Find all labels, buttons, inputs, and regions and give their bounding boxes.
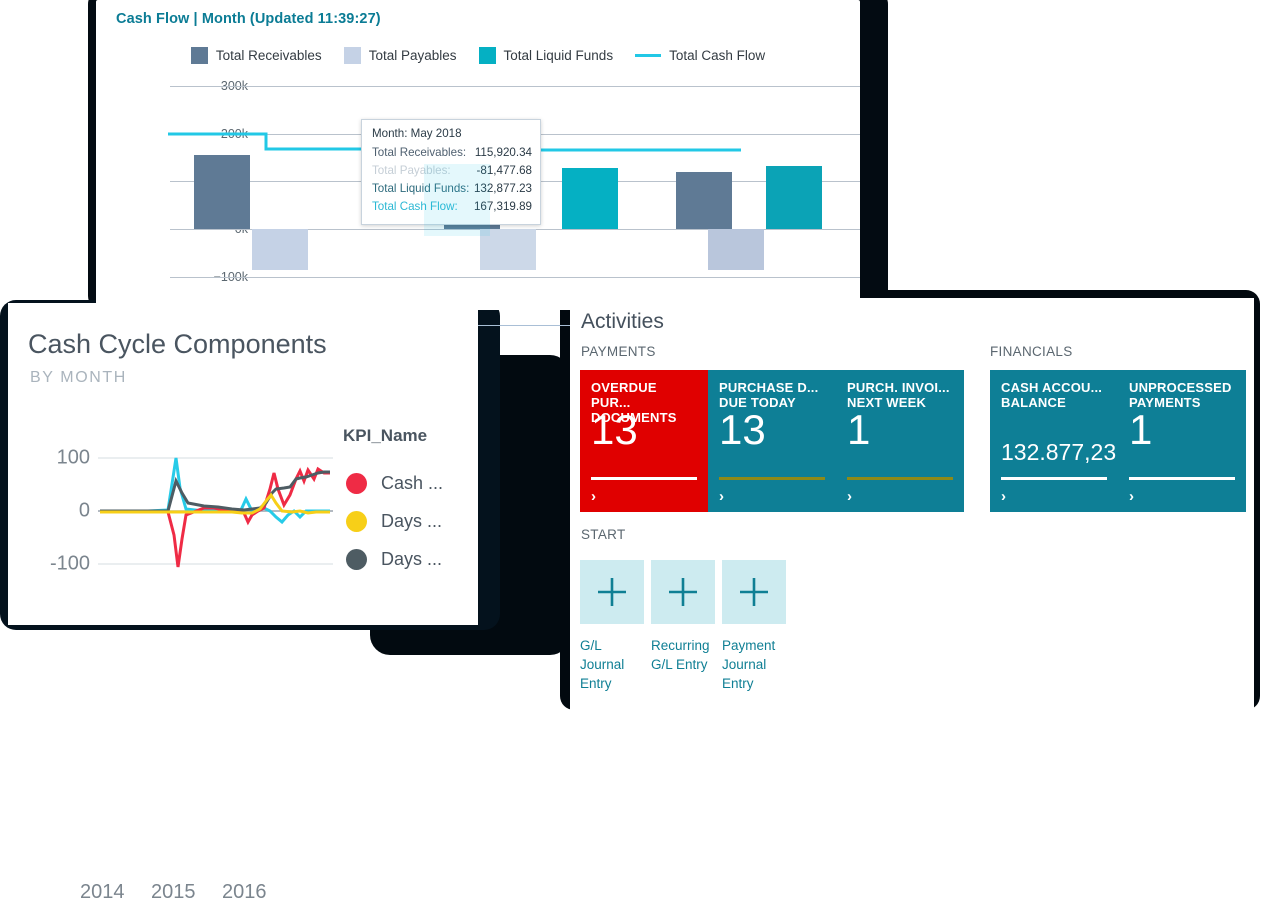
tooltip-value: -81,477.68 [477, 162, 532, 180]
tile-rule [719, 477, 825, 480]
tile-chevron-icon[interactable]: › [591, 489, 596, 504]
start-tile-label: Recurring G/L Entry [651, 636, 713, 674]
tile-value: 13 [719, 404, 766, 456]
tooltip-row-total-liquid-funds: Total Liquid Funds: 132,877.23 [372, 180, 532, 198]
activities-title: Activities [581, 310, 664, 334]
section-label-financials: FINANCIALS [990, 344, 1073, 359]
tooltip-row-total-payables: Total Payables: -81,477.68 [372, 162, 532, 180]
tile-purchase-documents-due-today[interactable]: PURCHASE D... DUE TODAY 13 › [708, 370, 836, 512]
tooltip-month-label: Month: May 2018 [372, 127, 532, 140]
tile-value: 13 [591, 404, 638, 456]
start-tile-payment-journal-entry[interactable] [722, 560, 786, 624]
tile-overdue-purchase-documents[interactable]: OVERDUE PUR... DOCUMENTS 13 › [580, 370, 708, 512]
tile-rule [591, 477, 697, 480]
tile-value: 1 [1129, 404, 1152, 456]
tooltip-value: 132,877.23 [474, 180, 532, 198]
activities-panel: Activities PAYMENTS FINANCIALS START OVE… [570, 298, 1254, 710]
tile-value: 1 [847, 404, 870, 456]
tile-caption-line2: BALANCE [1001, 395, 1107, 410]
section-label-start: START [581, 527, 626, 542]
tile-chevron-icon[interactable]: › [719, 489, 724, 504]
cc-x-axis-tick: 2014 [80, 881, 125, 904]
tile-caption-line1: UNPROCESSED [1129, 380, 1235, 395]
cash-cycle-line-chart [8, 303, 478, 625]
tooltip-row-total-cash-flow: Total Cash Flow: 167,319.89 [372, 198, 532, 216]
tile-chevron-icon[interactable]: › [1001, 489, 1006, 504]
tile-chevron-icon[interactable]: › [847, 489, 852, 504]
tile-rule [847, 477, 953, 480]
tile-value: 132.877,23 [1001, 426, 1116, 478]
cash-cycle-components-panel: Cash Cycle Components BY MONTH KPI_Name … [8, 303, 478, 625]
tooltip-value: 115,920.34 [475, 144, 532, 162]
section-label-payments: PAYMENTS [581, 344, 656, 359]
tile-rule [1001, 477, 1107, 480]
chart-tooltip: Month: May 2018 Total Receivables: 115,9… [361, 119, 541, 225]
start-tile-recurring-gl-entry[interactable] [651, 560, 715, 624]
tile-caption-line1: PURCH. INVOI... [847, 380, 953, 395]
tooltip-key: Total Cash Flow: [372, 198, 458, 216]
start-tile-label: Payment Journal Entry [722, 636, 784, 693]
tile-purchase-invoices-next-week[interactable]: PURCH. INVOI... NEXT WEEK 1 › [836, 370, 964, 512]
tile-chevron-icon[interactable]: › [1129, 489, 1134, 504]
cc-x-axis-tick: 2016 [222, 881, 267, 904]
plus-icon [580, 560, 644, 624]
start-tile-gl-journal-entry[interactable] [580, 560, 644, 624]
tooltip-row-total-receivables: Total Receivables: 115,920.34 [372, 144, 532, 162]
tooltip-key: Total Receivables: [372, 144, 466, 162]
tile-caption-line1: CASH ACCOU... [1001, 380, 1107, 395]
plus-icon [651, 560, 715, 624]
tooltip-value: 167,319.89 [474, 198, 532, 216]
plus-icon [722, 560, 786, 624]
tooltip-key: Total Liquid Funds: [372, 180, 469, 198]
start-tile-label: G/L Journal Entry [580, 636, 642, 693]
tile-rule [1129, 477, 1235, 480]
tile-cash-account-balance[interactable]: CASH ACCOU... BALANCE 132.877,23 › [990, 370, 1118, 512]
tooltip-key: Total Payables: [372, 162, 451, 180]
tile-caption-line1: PURCHASE D... [719, 380, 825, 395]
tile-unprocessed-payments[interactable]: UNPROCESSED PAYMENTS 1 › [1118, 370, 1246, 512]
cash-flow-chart-panel: Cash Flow | Month (Updated 11:39:27) Tot… [96, 0, 860, 310]
cc-x-axis-tick: 2015 [151, 881, 196, 904]
